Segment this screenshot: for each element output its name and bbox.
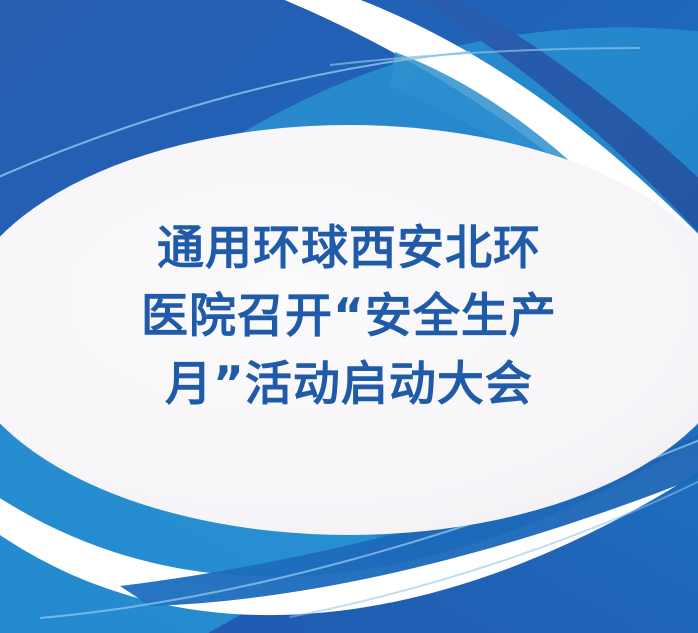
- center-white-ellipse-panel: [0, 125, 698, 535]
- poster-canvas: 通用环球西安北环 医院召开“安全生产 月”活动启动大会: [0, 0, 698, 633]
- decorative-background: [0, 0, 698, 633]
